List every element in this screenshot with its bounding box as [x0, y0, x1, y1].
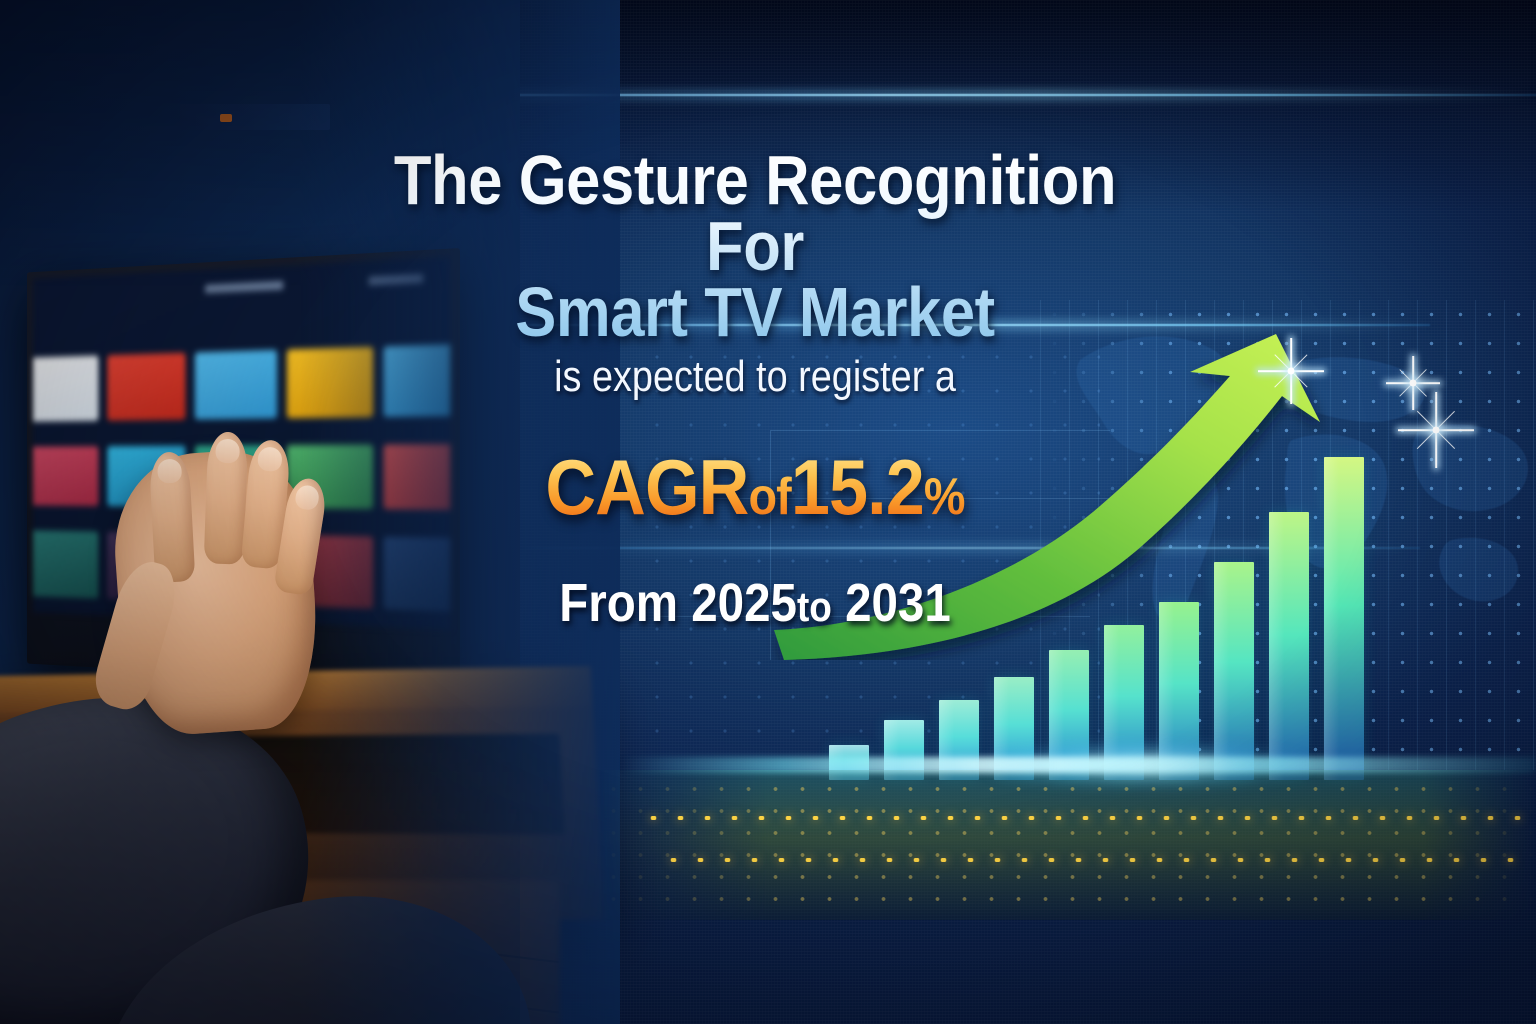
vignette — [0, 0, 1536, 1024]
infographic-canvas: The Gesture Recognition For Smart TV Mar… — [0, 0, 1536, 1024]
